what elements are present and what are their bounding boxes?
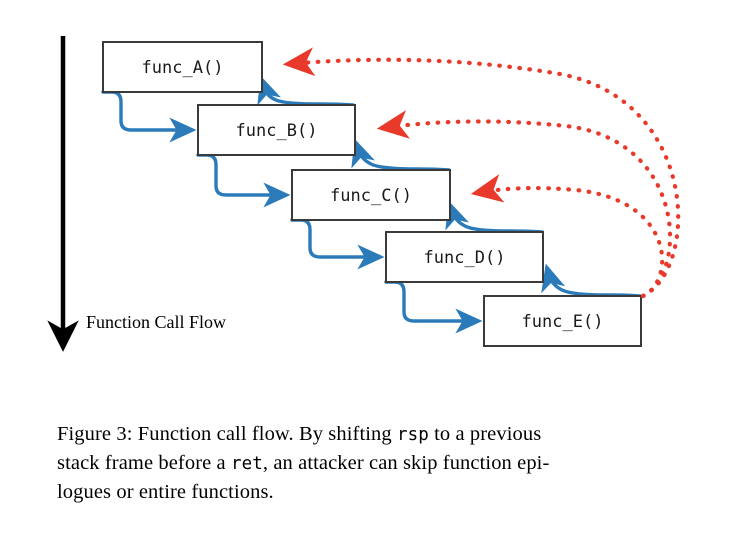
- call-flow-diagram: Function Call Flow func_A() func_B(): [0, 0, 750, 400]
- call-arrow-func-d-to-func-e: [386, 282, 478, 321]
- figure-canvas: Function Call Flow func_A() func_B(): [0, 0, 750, 536]
- flow-axis-label: Function Call Flow: [86, 312, 226, 332]
- function-box-label-func-e: func_E(): [522, 312, 604, 332]
- caption-line-1: Figure 3: Function call flow. By shiftin…: [57, 420, 697, 449]
- function-box-func-d[interactable]: func_D(): [386, 232, 543, 282]
- caption-line-2: stack frame before a ret, an attacker ca…: [57, 449, 697, 478]
- caption-line-2-text-b: , an attacker can skip function epi-: [263, 452, 550, 474]
- function-box-func-a[interactable]: func_A(): [103, 42, 262, 92]
- function-box-func-c[interactable]: func_C(): [292, 170, 450, 220]
- function-box-label-func-c: func_C(): [330, 186, 412, 206]
- return-arrow-func-c-to-func-b: [356, 143, 449, 170]
- caption-line-1-text-b: to a previous: [429, 423, 541, 445]
- call-arrow-func-c-to-func-d: [292, 220, 380, 257]
- call-arrow-func-b-to-func-c: [198, 155, 286, 195]
- figure-caption: Figure 3: Function call flow. By shiftin…: [57, 420, 697, 506]
- function-box-label-func-d: func_D(): [424, 248, 506, 268]
- caption-line-3: logues or entire functions.: [57, 478, 697, 506]
- caption-line-2-mono-ret: ret: [231, 454, 263, 474]
- caption-line-1-mono-rsp: rsp: [397, 425, 429, 445]
- function-box-label-func-b: func_B(): [236, 121, 318, 141]
- return-arrow-func-d-to-func-c: [450, 205, 542, 232]
- return-arrow-func-e-to-func-d: [547, 268, 640, 296]
- caption-line-1-text-a: Figure 3: Function call flow. By shiftin…: [57, 423, 397, 445]
- caption-line-2-text-a: stack frame before a: [57, 452, 231, 474]
- function-box-label-func-a: func_A(): [142, 58, 224, 78]
- function-box-func-b[interactable]: func_B(): [198, 105, 355, 155]
- call-arrow-func-a-to-func-b: [103, 92, 192, 130]
- return-arrow-func-b-to-func-a: [262, 80, 353, 105]
- function-box-group: func_A() func_B() func_C() func_D() func…: [103, 42, 641, 346]
- function-box-func-e[interactable]: func_E(): [484, 296, 641, 346]
